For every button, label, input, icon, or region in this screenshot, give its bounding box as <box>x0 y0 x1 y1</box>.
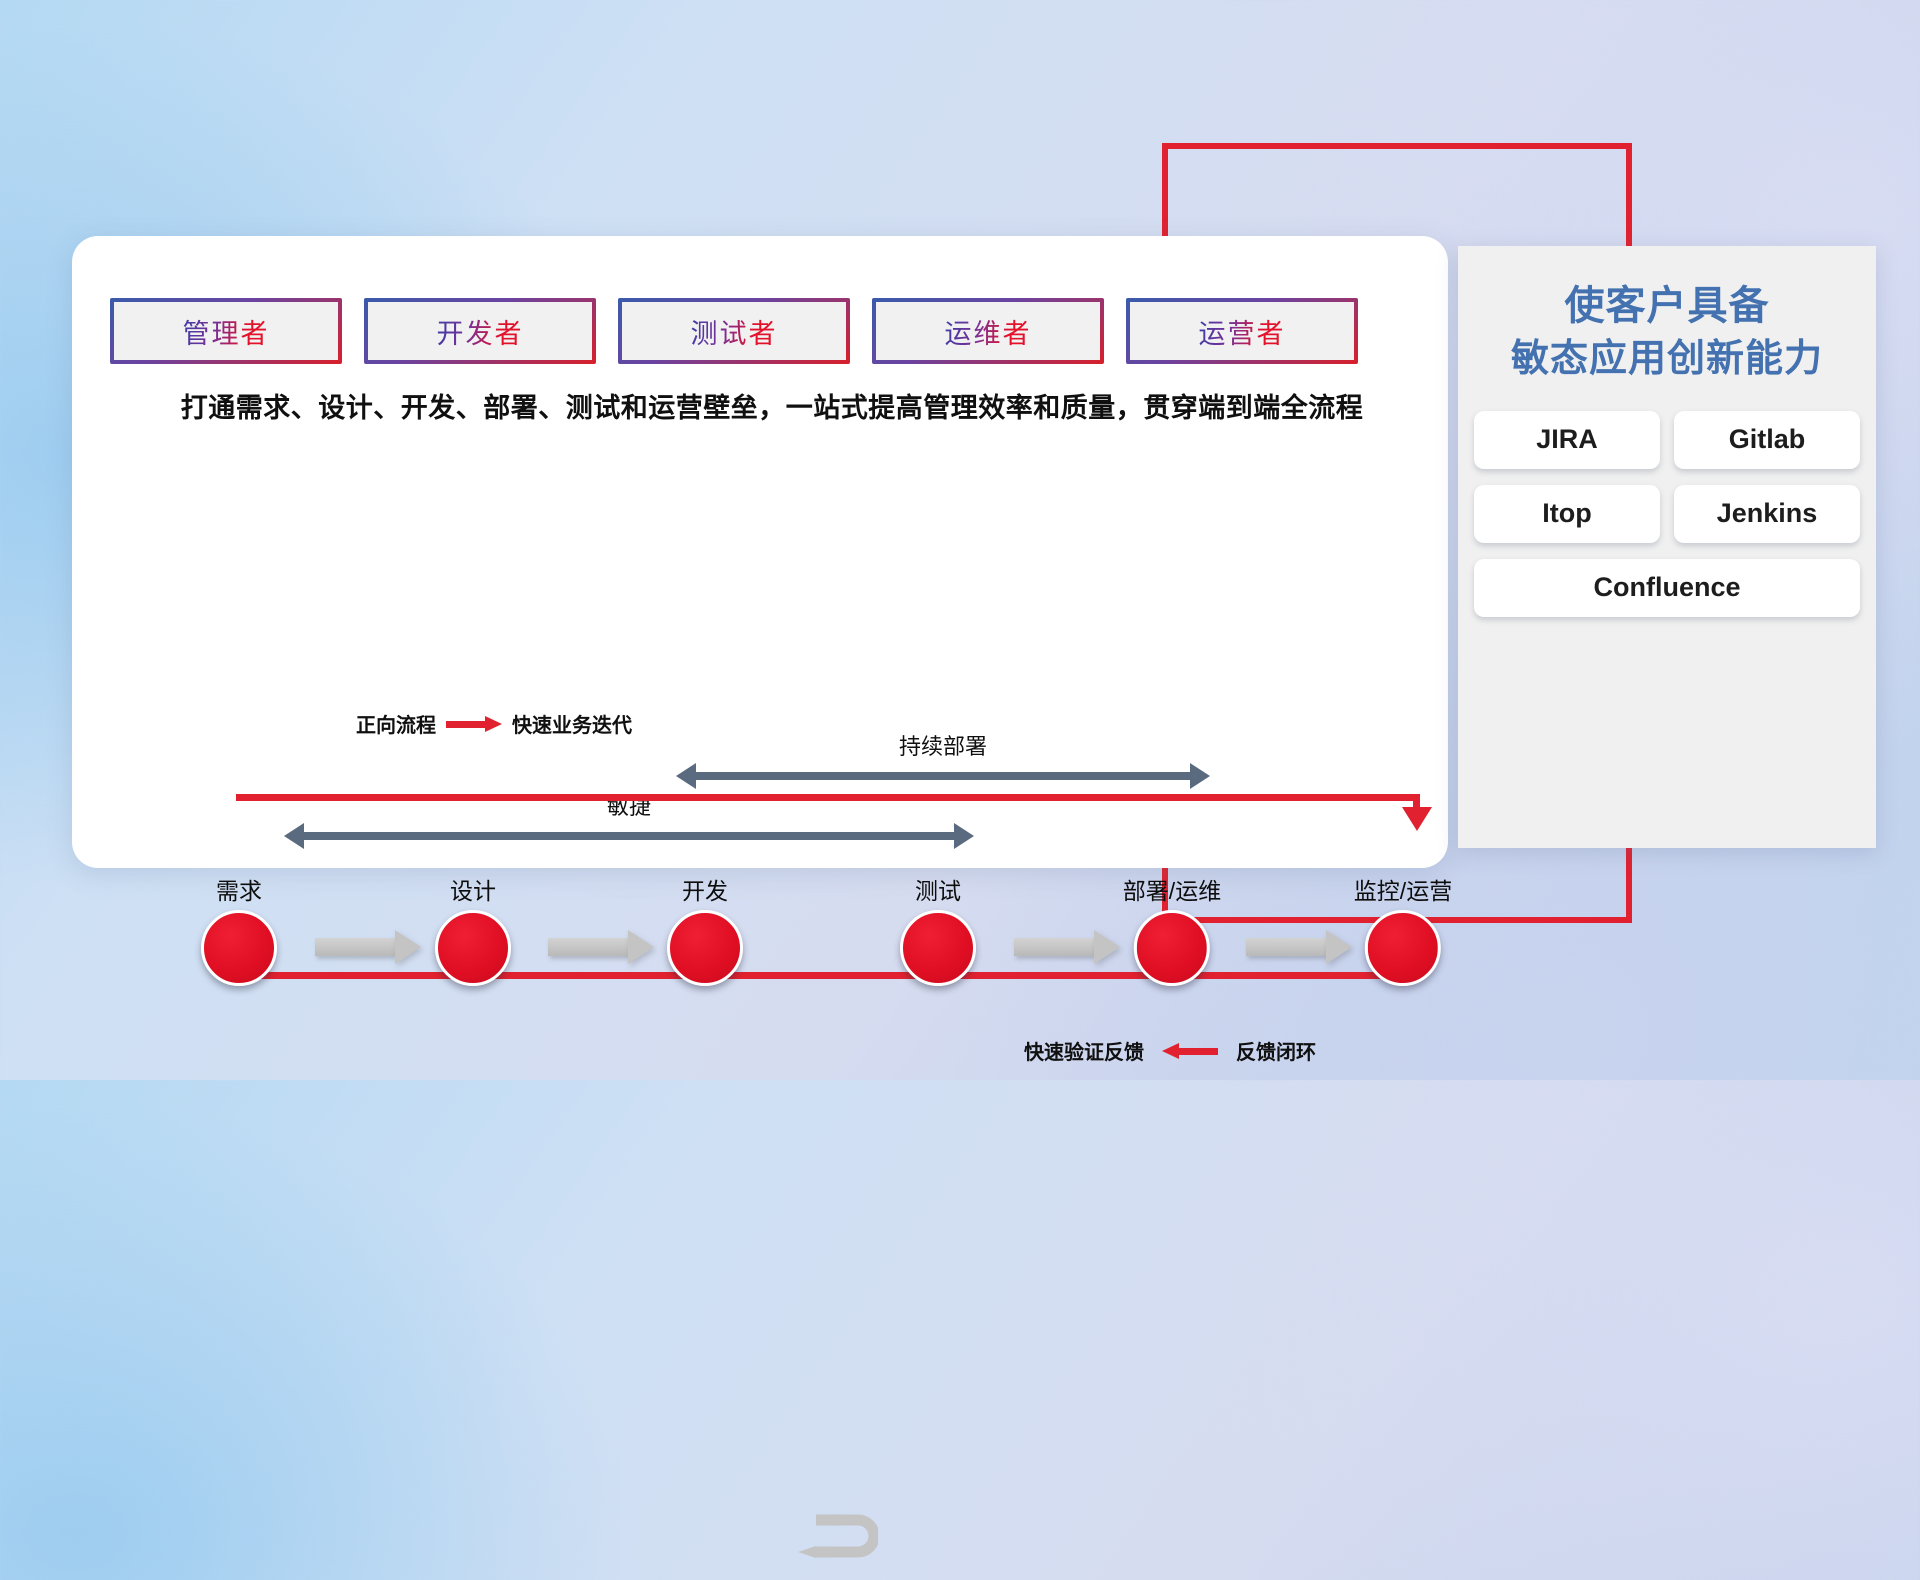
pipeline-loop-arrow-icon <box>782 1514 878 1580</box>
pipeline-node-deploy-ops[interactable]: 部署/运维 <box>1123 872 1221 986</box>
tool-chip-grid: JIRA Gitlab Itop Jenkins Confluence <box>1458 411 1876 617</box>
span-arrow-label: 持续部署 <box>676 729 1210 761</box>
devops-pipeline: 需求 设计 开发 测试 部署/运维 监控/运营 <box>72 850 1448 990</box>
pipeline-node-requirement[interactable]: 需求 <box>201 872 277 986</box>
span-arrow-continuous-deployment: 持续部署 <box>676 763 1210 789</box>
legend-forward-right-label: 快速业务迭代 <box>512 709 632 738</box>
tool-chip-label: Jenkins <box>1717 498 1818 529</box>
tool-chip-itop[interactable]: Itop <box>1474 485 1660 543</box>
pipeline-node-label: 开发 <box>667 872 743 906</box>
arrow-head-left-icon <box>676 763 696 789</box>
pipeline-node-monitor-operations[interactable]: 监控/运营 <box>1354 872 1452 986</box>
legend-feedback-right-label: 反馈闭环 <box>1236 1036 1316 1065</box>
pipeline-node-label: 需求 <box>201 872 277 906</box>
pipeline-node-dot <box>435 910 511 986</box>
role-chip-operations[interactable]: 运营者 <box>1126 298 1358 364</box>
pipeline-arrow-1-icon <box>315 930 421 964</box>
pipeline-node-label: 设计 <box>435 872 511 906</box>
pipeline-node-dot <box>1365 910 1441 986</box>
role-chip-label: 管理者 <box>183 312 270 351</box>
tool-chip-label: Confluence <box>1593 572 1740 603</box>
role-chip-label: 运营者 <box>1199 312 1286 351</box>
tool-chip-confluence[interactable]: Confluence <box>1474 559 1860 617</box>
arrow-right-red-icon <box>446 716 502 732</box>
arrow-left-red-icon <box>1162 1043 1218 1059</box>
pipeline-node-label: 测试 <box>900 872 976 906</box>
pipeline-arrow-4-icon <box>1014 930 1120 964</box>
pipeline-arrow-5-icon <box>1246 930 1352 964</box>
pipeline-node-design[interactable]: 设计 <box>435 872 511 986</box>
tool-chip-gitlab[interactable]: Gitlab <box>1674 411 1860 469</box>
legend-forward-flow: 正向流程 快速业务迭代 <box>356 709 632 738</box>
role-chip-label: 测试者 <box>691 312 778 351</box>
pipeline-node-label: 监控/运营 <box>1354 872 1452 906</box>
legend-feedback-loop: 快速验证反馈 反馈闭环 <box>1024 1036 1316 1065</box>
pipeline-node-dot <box>201 910 277 986</box>
role-chip-tester[interactable]: 测试者 <box>618 298 850 364</box>
tool-chip-jira[interactable]: JIRA <box>1474 411 1660 469</box>
devops-card: 管理者 开发者 测试者 运维者 运营者 打通需求、设计、开发、部署、测试和运营壁… <box>72 236 1448 868</box>
pipeline-arrow-2-icon <box>548 930 654 964</box>
pipeline-node-dot <box>667 910 743 986</box>
arrow-down-red-icon <box>1402 807 1432 831</box>
pipeline-node-test[interactable]: 测试 <box>900 872 976 986</box>
feedback-loop-rail-top <box>236 794 1420 801</box>
tool-chip-label: JIRA <box>1536 424 1598 455</box>
arrow-head-right-icon <box>954 823 974 849</box>
arrow-head-left-icon <box>284 823 304 849</box>
value-panel-title-line2: 敏态应用创新能力 <box>1458 334 1876 385</box>
value-panel: 使客户具备 敏态应用创新能力 JIRA Gitlab Itop Jenkins … <box>1458 246 1876 848</box>
tool-chip-jenkins[interactable]: Jenkins <box>1674 485 1860 543</box>
role-chip-label: 运维者 <box>945 312 1032 351</box>
arrow-head-right-icon <box>1190 763 1210 789</box>
role-chip-ops[interactable]: 运维者 <box>872 298 1104 364</box>
pipeline-node-label: 部署/运维 <box>1123 872 1221 906</box>
span-arrow-agile: 敏捷 <box>284 823 974 849</box>
role-chip-manager[interactable]: 管理者 <box>110 298 342 364</box>
role-chip-label: 开发者 <box>437 312 524 351</box>
value-panel-title: 使客户具备 敏态应用创新能力 <box>1458 246 1876 385</box>
pipeline-node-dot <box>900 910 976 986</box>
card-headline: 打通需求、设计、开发、部署、测试和运营壁垒，一站式提高管理效率和质量，贯穿端到端… <box>122 386 1422 425</box>
role-chip-row: 管理者 开发者 测试者 运维者 运营者 <box>110 298 1358 364</box>
role-chip-developer[interactable]: 开发者 <box>364 298 596 364</box>
legend-feedback-left-label: 快速验证反馈 <box>1024 1036 1144 1065</box>
tool-chip-label: Gitlab <box>1729 424 1806 455</box>
tool-chip-label: Itop <box>1542 498 1591 529</box>
pipeline-node-development[interactable]: 开发 <box>667 872 743 986</box>
legend-forward-left-label: 正向流程 <box>356 709 436 738</box>
value-panel-title-line1: 使客户具备 <box>1458 280 1876 334</box>
pipeline-node-dot <box>1134 910 1210 986</box>
